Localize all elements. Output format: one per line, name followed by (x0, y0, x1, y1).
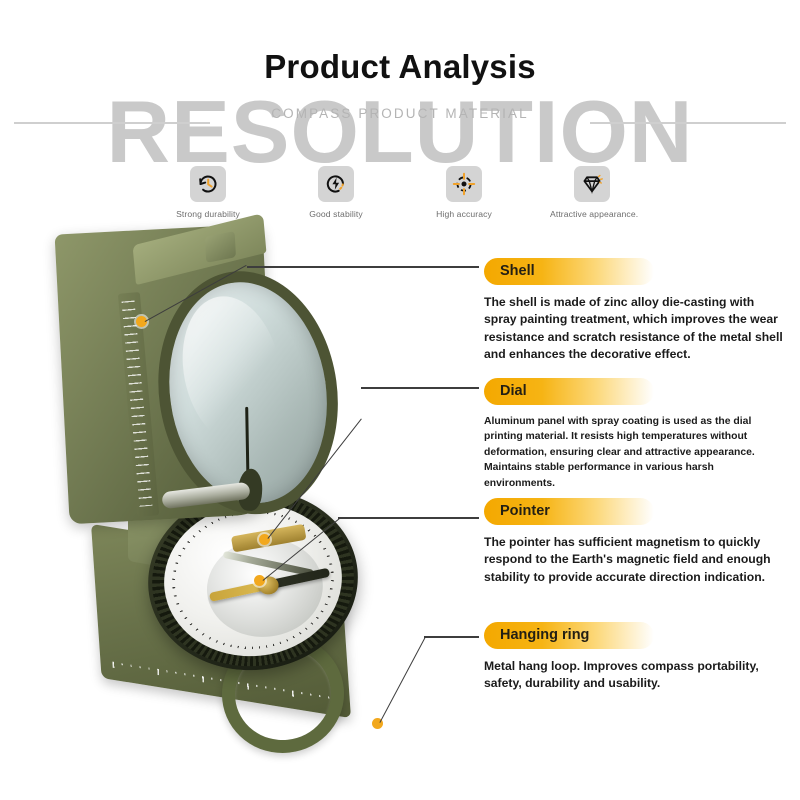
callout-text-pointer: The pointer has sufficient magnetism to … (484, 534, 784, 586)
leader-line-pointer (338, 517, 479, 519)
leader-line-ring-diagonal (379, 638, 425, 723)
callout-dial: Dial Aluminum panel with spray coating i… (484, 378, 784, 491)
leader-line-pointer-diagonal (263, 517, 342, 581)
title-plate: Product Analysis (238, 44, 562, 89)
leader-line-dial (361, 387, 479, 389)
callout-badge-shell: Shell (484, 258, 654, 285)
callout-badge-hanging-ring: Hanging ring (484, 622, 654, 649)
leader-line-shell-diagonal (145, 265, 247, 322)
callout-badge-dial: Dial (484, 378, 654, 405)
callout-hanging-ring: Hanging ring Metal hang loop. Improves c… (484, 622, 784, 693)
callout-shell: Shell The shell is made of zinc alloy di… (484, 258, 784, 363)
page-title: Product Analysis (264, 48, 536, 86)
leader-line-dial-diagonal (267, 418, 362, 539)
infographic-page: RESOLUTION Product Analysis COMPASS PROD… (0, 0, 800, 800)
callout-pointer: Pointer The pointer has sufficient magne… (484, 498, 784, 586)
callout-text-dial: Aluminum panel with spray coating is use… (484, 414, 784, 491)
callout-text-shell: The shell is made of zinc alloy die-cast… (484, 294, 784, 363)
leader-line-ring (424, 636, 479, 638)
leader-line-shell (247, 266, 479, 268)
page-subtitle: COMPASS PRODUCT MATERIAL (0, 106, 800, 121)
callout-text-hanging-ring: Metal hang loop. Improves compass portab… (484, 658, 784, 693)
callout-badge-pointer: Pointer (484, 498, 654, 525)
